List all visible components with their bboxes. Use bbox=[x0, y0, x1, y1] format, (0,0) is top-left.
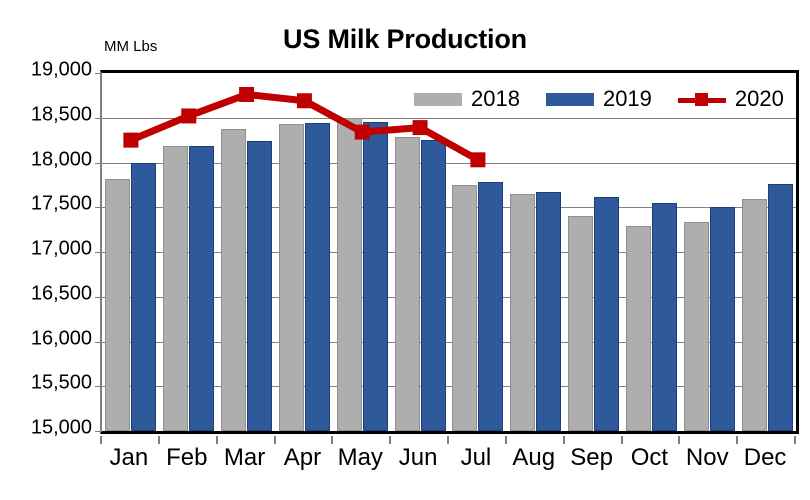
bar-2019 bbox=[421, 140, 446, 431]
y-axis-tick-label: 17,500 bbox=[2, 193, 92, 216]
bar-2019 bbox=[536, 192, 561, 431]
line-marker-2020 bbox=[181, 108, 196, 123]
plot-area bbox=[100, 70, 799, 434]
line-marker-2020 bbox=[123, 133, 138, 148]
y-axis-tick bbox=[95, 297, 102, 298]
x-axis-tick bbox=[100, 436, 102, 444]
legend-item-label: 2020 bbox=[735, 86, 784, 112]
bar-2018 bbox=[163, 146, 188, 431]
line-marker-swatch-icon bbox=[678, 93, 726, 106]
x-axis-tick bbox=[563, 436, 565, 444]
legend-item-label: 2018 bbox=[471, 86, 520, 112]
x-axis-tick bbox=[158, 436, 160, 444]
y-axis-tick bbox=[95, 342, 102, 343]
x-axis-tick-label-oct: Oct bbox=[631, 444, 668, 472]
bar-2018 bbox=[452, 185, 477, 431]
gridline bbox=[102, 118, 796, 119]
y-axis-tick bbox=[95, 118, 102, 119]
x-axis-tick-label-mar: Mar bbox=[224, 444, 265, 472]
x-axis-tick-label-aug: Aug bbox=[512, 444, 555, 472]
bar-2019 bbox=[363, 122, 388, 431]
us-milk-production-chart: US Milk Production MM Lbs 19,00018,50018… bbox=[0, 0, 810, 500]
x-axis-tick bbox=[621, 436, 623, 444]
x-axis-tick-label-dec: Dec bbox=[744, 444, 787, 472]
y-axis-tick bbox=[95, 386, 102, 387]
bar-swatch-icon bbox=[414, 93, 462, 106]
x-axis-tick bbox=[505, 436, 507, 444]
x-axis-tick bbox=[216, 436, 218, 444]
x-axis-tick-label-jan: Jan bbox=[110, 444, 149, 472]
bar-2018 bbox=[221, 129, 246, 431]
bar-2019 bbox=[305, 123, 330, 431]
chart-legend: 201820192020 bbox=[410, 82, 788, 116]
y-axis-tick bbox=[95, 252, 102, 253]
x-axis-tick bbox=[678, 436, 680, 444]
bar-2018 bbox=[742, 199, 767, 431]
x-axis-tick bbox=[447, 436, 449, 444]
line-marker-2020 bbox=[413, 120, 428, 135]
y-axis-tick-label: 16,500 bbox=[2, 282, 92, 305]
x-axis-tick-label-feb: Feb bbox=[166, 444, 207, 472]
x-axis-tick bbox=[794, 436, 796, 444]
y-axis-labels: 19,00018,50018,00017,50017,00016,50016,0… bbox=[0, 70, 92, 428]
x-axis-tick-label-nov: Nov bbox=[686, 444, 729, 472]
x-axis-tick bbox=[331, 436, 333, 444]
x-axis-labels: JanFebMarAprMayJunJulAugSepOctNovDec bbox=[100, 436, 794, 476]
legend-item-2019[interactable]: 2019 bbox=[546, 86, 652, 112]
y-axis-tick-label: 16,000 bbox=[2, 327, 92, 350]
bar-2018 bbox=[684, 222, 709, 431]
y-axis-tick-label: 17,000 bbox=[2, 238, 92, 261]
x-axis-tick-label-jul: Jul bbox=[461, 444, 492, 472]
bar-2019 bbox=[478, 182, 503, 431]
x-axis-tick-label-jun: Jun bbox=[399, 444, 438, 472]
bar-2019 bbox=[594, 197, 619, 431]
x-axis-tick bbox=[389, 436, 391, 444]
bar-2018 bbox=[395, 137, 420, 431]
line-marker-2020 bbox=[239, 87, 254, 102]
bar-2019 bbox=[189, 146, 214, 431]
line-marker-2020 bbox=[470, 152, 485, 167]
y-axis-unit-label: MM Lbs bbox=[104, 38, 157, 55]
bar-swatch-icon bbox=[546, 93, 594, 106]
bar-2018 bbox=[568, 216, 593, 431]
line-marker-2020 bbox=[297, 93, 312, 108]
bar-2018 bbox=[337, 118, 362, 431]
bar-2019 bbox=[247, 141, 272, 431]
x-axis-tick-label-apr: Apr bbox=[284, 444, 321, 472]
x-axis-tick bbox=[274, 436, 276, 444]
bar-2018 bbox=[279, 124, 304, 431]
y-axis-tick-label: 18,000 bbox=[2, 148, 92, 171]
legend-item-2018[interactable]: 2018 bbox=[414, 86, 520, 112]
y-axis-tick bbox=[95, 431, 102, 432]
x-axis-tick-label-sep: Sep bbox=[570, 444, 613, 472]
y-axis-tick-label: 15,000 bbox=[2, 417, 92, 440]
bar-2018 bbox=[626, 226, 651, 431]
x-axis-tick bbox=[736, 436, 738, 444]
x-axis-tick-label-may: May bbox=[338, 444, 383, 472]
y-axis-tick bbox=[95, 73, 102, 74]
y-axis-tick-label: 18,500 bbox=[2, 103, 92, 126]
bar-2018 bbox=[105, 179, 130, 431]
y-axis-tick-label: 19,000 bbox=[2, 59, 92, 82]
bar-2019 bbox=[768, 184, 793, 431]
bar-2019 bbox=[710, 207, 735, 431]
y-axis-tick bbox=[95, 207, 102, 208]
y-axis-tick bbox=[95, 163, 102, 164]
plot-inner bbox=[102, 73, 796, 431]
y-axis-tick-label: 15,500 bbox=[2, 372, 92, 395]
bar-2019 bbox=[652, 203, 677, 431]
legend-item-label: 2019 bbox=[603, 86, 652, 112]
legend-item-2020[interactable]: 2020 bbox=[678, 86, 784, 112]
bar-2018 bbox=[510, 194, 535, 431]
bar-2019 bbox=[131, 163, 156, 432]
